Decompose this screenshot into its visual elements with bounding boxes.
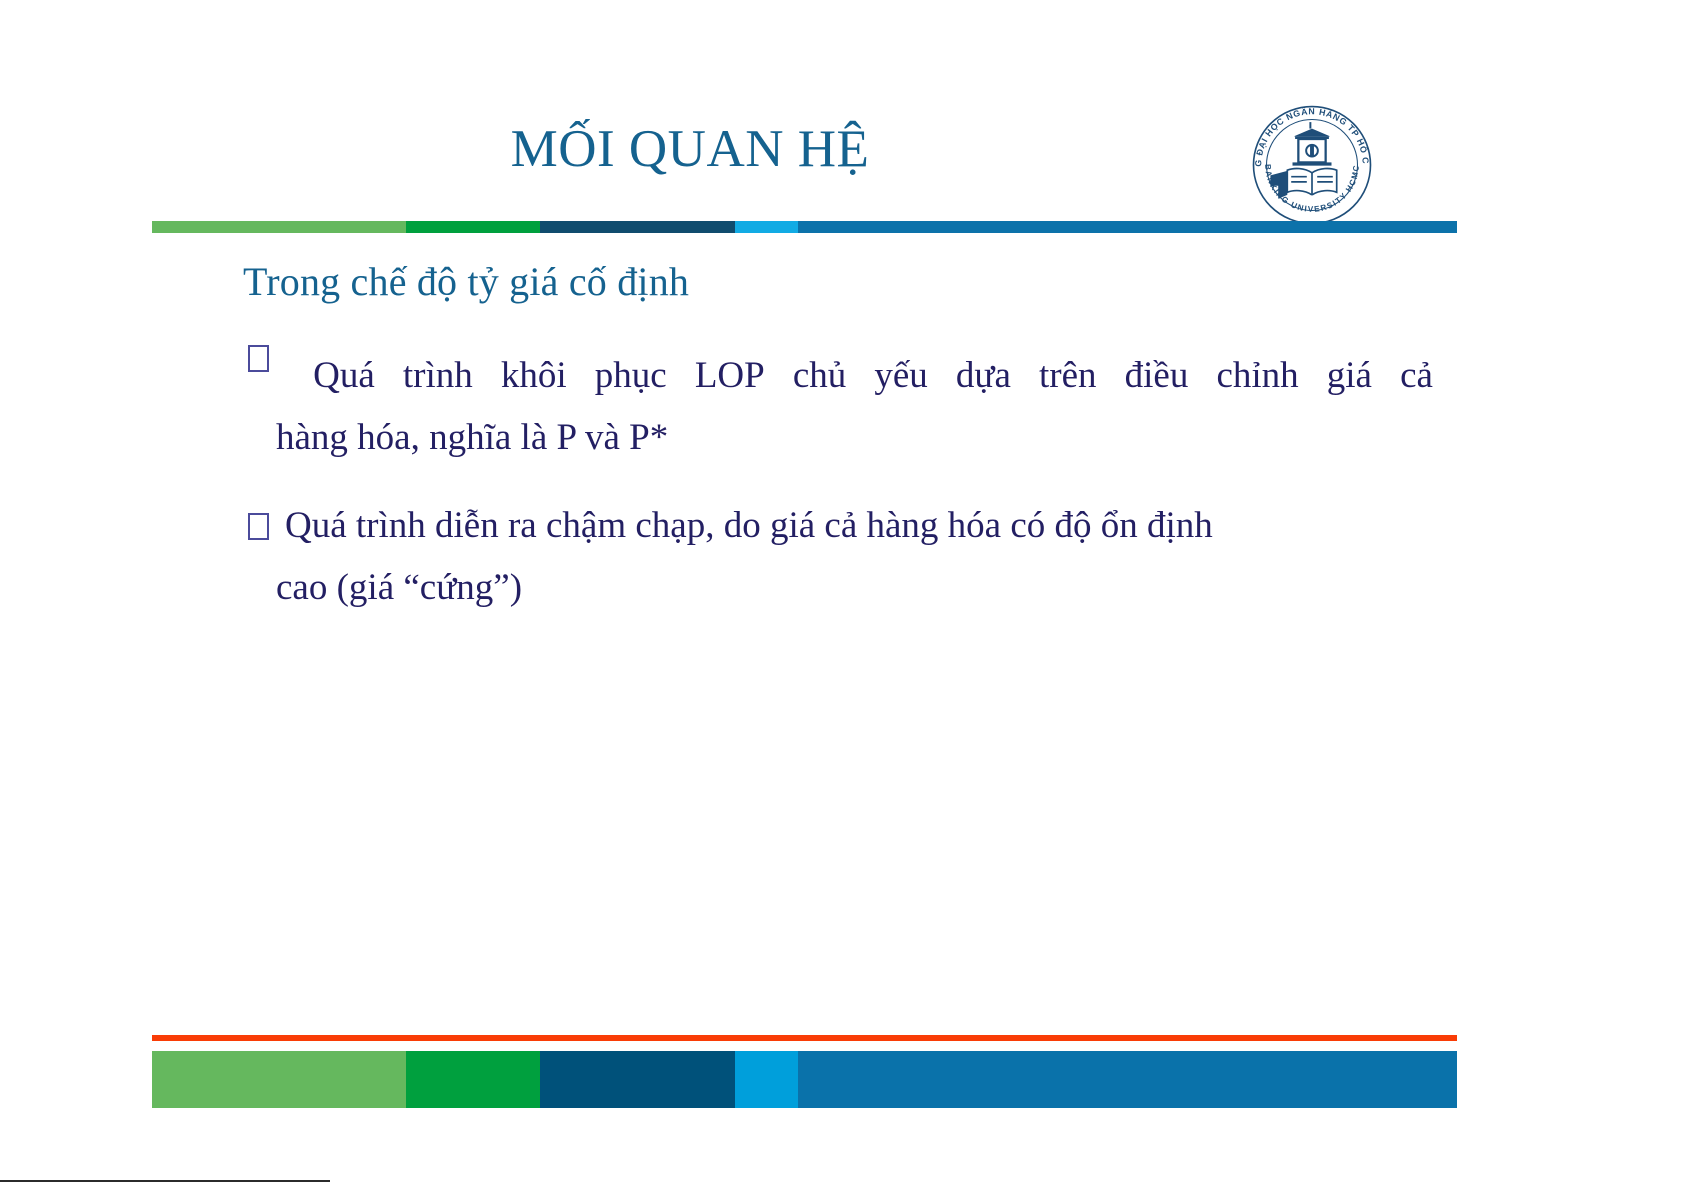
bullet-1-word-12: cả (1400, 345, 1433, 407)
bullet-1-word-8: trên (1039, 345, 1097, 407)
bullet-1-word-9: điều (1125, 345, 1189, 407)
bullet-1-word-3: phục (595, 345, 667, 407)
footer-bar-segment-cyan (735, 1051, 798, 1108)
page-bottom-edge-line (0, 1180, 330, 1182)
header-color-bar (152, 221, 1457, 233)
bullet-1-word-10: chỉnh (1216, 345, 1298, 407)
presentation-slide: MỐI QUAN HỆ TRƯỜNG ĐẠI HỌC NGÂN HÀNG TP … (0, 0, 1685, 1191)
footer-bar-segment-navy (540, 1051, 736, 1108)
footer-bar-segment-green (406, 1051, 539, 1108)
empty-square-bullet-icon (248, 513, 269, 540)
footer-color-bar (152, 1051, 1457, 1108)
bullet-1-word-4: LOP (695, 345, 765, 407)
footer-orange-rule (152, 1035, 1457, 1041)
bullet-1-line-1: Quá trình khôi phục LOP chủ yếu dựa trên… (248, 345, 1433, 407)
bullet-item-1: Quá trình khôi phục LOP chủ yếu dựa trên… (248, 345, 1433, 469)
bullet-item-2: Quá trình diễn ra chậm chạp, do giá cả h… (248, 495, 1433, 619)
bullet-1-line-2: hàng hóa, nghĩa là P và P* (248, 407, 1433, 469)
footer-bar-segment-light-green (152, 1051, 406, 1108)
bullet-1-word-5: chủ (793, 345, 846, 407)
bullet-2-line-1-text: Quá trình diễn ra chậm chạp, do giá cả h… (285, 505, 1213, 546)
slide-subtitle: Trong chế độ tỷ giá cố định (243, 258, 689, 305)
banking-university-logo: TRƯỜNG ĐẠI HỌC NGÂN HÀNG TP HỒ CHÍ MINH … (1247, 100, 1377, 230)
footer-bar-segment-blue (798, 1051, 1457, 1108)
bullet-2-line-1: Quá trình diễn ra chậm chạp, do giá cả h… (248, 495, 1433, 557)
bar-segment-navy (540, 221, 736, 233)
bullet-1-word-0: Quá (313, 345, 375, 407)
bullet-1-word-7: dựa (956, 345, 1011, 407)
bar-segment-green (406, 221, 539, 233)
bullet-1-word-11: giá (1327, 345, 1372, 407)
bullet-1-word-6: yếu (874, 345, 927, 407)
bullet-1-line-2-text: hàng hóa, nghĩa là P và P* (276, 417, 668, 458)
empty-square-bullet-icon (248, 345, 269, 372)
bullet-2-line-2: cao (giá “cứng”) (248, 557, 1433, 619)
bar-segment-cyan (735, 221, 798, 233)
bar-segment-light-green (152, 221, 406, 233)
bullet-2-line-2-text: cao (giá “cứng”) (276, 567, 522, 608)
bar-segment-blue (798, 221, 1457, 233)
bullet-1-word-1: trình (403, 345, 473, 407)
slide-title: MỐI QUAN HỆ (160, 122, 1220, 178)
bullet-1-word-2: khôi (501, 345, 567, 407)
